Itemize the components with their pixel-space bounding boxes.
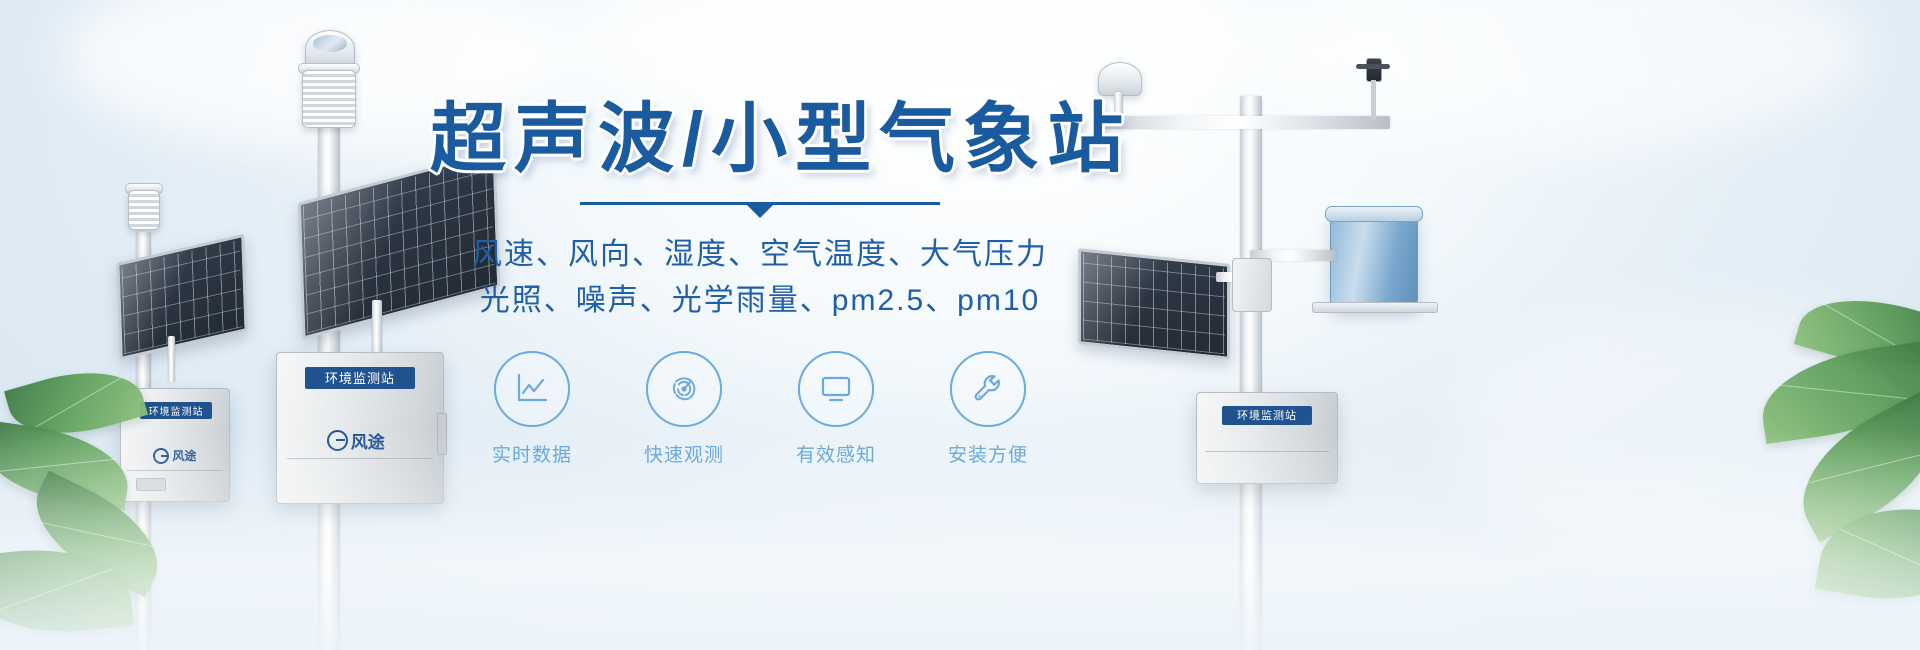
subtitle-line-1: 风速、风向、湿度、空气温度、大气压力 [430, 232, 1090, 279]
cross-arm [1100, 116, 1390, 129]
line-chart-icon [494, 351, 570, 427]
panel-bracket [372, 300, 382, 360]
banner-content: 超声波/小型气象站 风速、风向、湿度、空气温度、大气压力 光照、噪声、光学雨量、… [430, 100, 1090, 467]
product-banner: 环境监测站 风途 环境监测站 风途 [0, 0, 1920, 650]
rain-gauge [1330, 212, 1418, 310]
feature-item-effective-sensing[interactable]: 有效感知 [781, 351, 891, 467]
wrench-icon [950, 351, 1026, 427]
optical-rain-sensor [1360, 58, 1386, 120]
title-divider [580, 202, 940, 216]
mounting-shelf [1312, 302, 1438, 313]
radiation-shield-sensor [128, 190, 160, 230]
feature-label: 有效感知 [796, 440, 876, 467]
ultrasonic-wind-sensor [1098, 62, 1142, 96]
page-title: 超声波/小型气象站 [430, 100, 1090, 180]
radiation-shield-sensor [302, 70, 356, 128]
feature-list: 实时数据 快速观测 [430, 351, 1090, 467]
station-name-plate: 环境监测站 [1222, 406, 1312, 425]
subtitle-line-2: 光照、噪声、光学雨量、pm2.5、pm10 [430, 278, 1090, 325]
feature-item-realtime-data[interactable]: 实时数据 [477, 351, 587, 467]
station-name-plate: 环境监测站 [305, 367, 415, 389]
divider-triangle-icon [747, 205, 773, 218]
feature-label: 快速观测 [644, 440, 724, 467]
feature-label: 安装方便 [948, 440, 1028, 467]
solar-panel [1078, 248, 1230, 360]
junction-box [1232, 258, 1272, 312]
panel-bracket [168, 336, 175, 382]
feature-item-fast-observation[interactable]: 快速观测 [629, 351, 739, 467]
radar-wave-icon [646, 351, 722, 427]
feature-item-easy-installation[interactable]: 安装方便 [933, 351, 1043, 467]
feature-label: 实时数据 [492, 440, 572, 467]
monitor-icon [798, 351, 874, 427]
station-name-plate: 环境监测站 [140, 402, 211, 419]
